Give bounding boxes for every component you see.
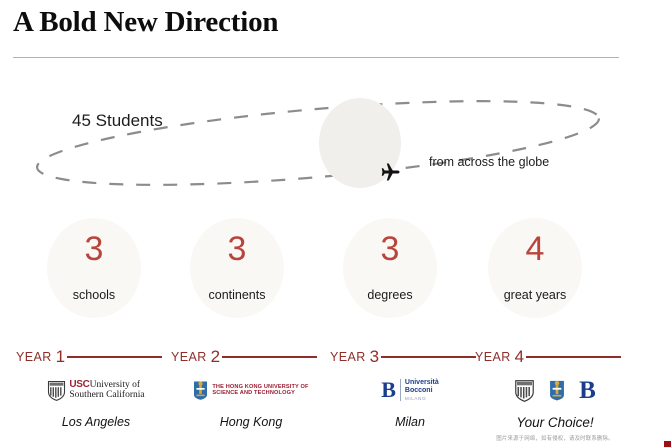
usc-wordmark: USCUniversity of Southern California xyxy=(69,380,144,400)
usc-line-2: Southern California xyxy=(69,391,144,401)
bocconi-divider xyxy=(400,379,401,401)
year-word: YEAR xyxy=(475,350,511,364)
stat-value: 3 xyxy=(44,232,144,266)
watermark-text: 图片来源于网络，如有侵权，请及时联系删除。 xyxy=(475,434,635,442)
stat-card-degrees: 3 degrees xyxy=(340,218,440,326)
globe-caption-label: from across the globe xyxy=(429,155,549,169)
stat-label: schools xyxy=(44,288,144,302)
year-word: YEAR xyxy=(330,350,366,364)
airplane-icon xyxy=(379,161,401,183)
year-column-2: YEAR 2 THE HONG KONG UNIVERSITY OF SCI xyxy=(171,348,331,447)
slide-canvas: A Bold New Direction 45 Students from ac… xyxy=(0,0,671,447)
year-number: 2 xyxy=(211,348,220,365)
university-logo-usc: USCUniversity of Southern California xyxy=(16,374,176,406)
corner-marker xyxy=(664,441,671,447)
stat-label: great years xyxy=(485,288,585,302)
stat-card-schools: 3 schools xyxy=(44,218,144,326)
bocconi-wordmark: Università Bocconi MILANO xyxy=(405,379,439,401)
year-city: Los Angeles xyxy=(16,415,176,429)
year-heading: YEAR 1 xyxy=(16,348,176,365)
year-rule xyxy=(222,356,317,358)
year-city: Your Choice! xyxy=(475,415,635,430)
hkust-shield-icon xyxy=(193,380,208,400)
orbit-section: 45 Students from across the globe xyxy=(0,85,671,203)
year-number: 1 xyxy=(56,348,65,365)
university-logo-bocconi: B Università Bocconi MILANO xyxy=(330,374,490,406)
bocconi-b-icon: B xyxy=(381,379,396,401)
year-number: 3 xyxy=(370,348,379,365)
stats-row: 3 schools 3 continents 3 degrees 4 great… xyxy=(0,218,671,330)
usc-line-1: University of xyxy=(90,380,140,390)
university-logo-hkust: THE HONG KONG UNIVERSITY OF SCIENCE AND … xyxy=(171,374,331,406)
hkust-shield-icon xyxy=(549,379,565,401)
stat-label: continents xyxy=(187,288,287,302)
university-logo-combo: B xyxy=(475,374,635,406)
stat-value: 4 xyxy=(485,232,585,266)
year-city: Milan xyxy=(330,415,490,429)
year-word: YEAR xyxy=(16,350,52,364)
year-rule xyxy=(526,356,621,358)
header-divider xyxy=(13,57,619,58)
stat-value: 3 xyxy=(340,232,440,266)
year-heading: YEAR 3 xyxy=(330,348,490,365)
year-number: 4 xyxy=(515,348,524,365)
year-rule xyxy=(381,356,476,358)
page-title: A Bold New Direction xyxy=(13,6,278,39)
stat-card-great-years: 4 great years xyxy=(485,218,585,326)
year-word: YEAR xyxy=(171,350,207,364)
usc-shield-icon xyxy=(514,378,535,402)
year-city: Hong Kong xyxy=(171,415,331,429)
bocconi-line-3: MILANO xyxy=(405,396,439,401)
bocconi-b-icon: B xyxy=(579,378,596,403)
hkust-line-2: SCIENCE AND TECHNOLOGY xyxy=(212,390,308,396)
stat-label: degrees xyxy=(340,288,440,302)
year-rule xyxy=(67,356,162,358)
usc-abbreviation: USC xyxy=(69,379,89,390)
bocconi-line-1: Università xyxy=(405,379,439,387)
bocconi-line-2: Bocconi xyxy=(405,387,439,395)
year-column-4: YEAR 4 xyxy=(475,348,635,447)
students-count-label: 45 Students xyxy=(72,111,163,131)
hkust-wordmark: THE HONG KONG UNIVERSITY OF SCIENCE AND … xyxy=(212,384,308,397)
year-column-3: YEAR 3 B Università Bocconi MILANO Milan xyxy=(330,348,490,447)
stat-value: 3 xyxy=(187,232,287,266)
year-heading: YEAR 2 xyxy=(171,348,331,365)
year-heading: YEAR 4 xyxy=(475,348,635,365)
usc-shield-icon xyxy=(47,379,66,401)
year-column-1: YEAR 1 USCUniversity of Southern Cal xyxy=(16,348,176,447)
years-row: YEAR 1 USCUniversity of Southern Cal xyxy=(0,348,671,447)
stat-card-continents: 3 continents xyxy=(187,218,287,326)
